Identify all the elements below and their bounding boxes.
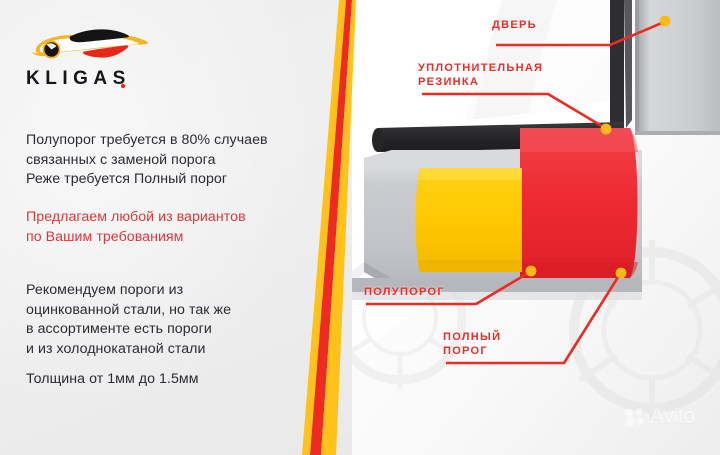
- avito-label: Avito: [650, 405, 695, 429]
- info-paragraph-3: Рекомендуем пороги из оцинкованной стали…: [26, 281, 231, 359]
- callout-label-full-sill: ПОЛНЫЙ ПОРОГ: [443, 330, 501, 358]
- brand-name: KLIGAS: [26, 68, 131, 90]
- callout-label-half-sill: ПОЛУПОРОГ: [364, 285, 445, 299]
- info-paragraph-4-thickness: Толщина от 1мм до 1.5мм: [26, 370, 199, 390]
- info-paragraph-1: Полупорог требуется в 80% случаев связан…: [26, 131, 268, 190]
- info-paragraph-2-highlight: Предлагаем любой из вариантов по Вашим т…: [26, 208, 246, 247]
- brand-logo: KLIGAS: [26, 22, 166, 92]
- callout-label-seal: УПЛОТНИТЕЛЬНАЯ РЕЗИНКА: [418, 61, 543, 89]
- logo-dot-icon: [119, 82, 127, 90]
- avito-watermark: Avito: [624, 405, 695, 429]
- avito-dots-icon: [624, 407, 646, 427]
- sports-car-icon: [26, 22, 154, 66]
- promo-image: KLIGAS Полупорог требуется в 80% случаев…: [0, 0, 720, 455]
- callout-label-door: ДВЕРЬ: [492, 18, 537, 32]
